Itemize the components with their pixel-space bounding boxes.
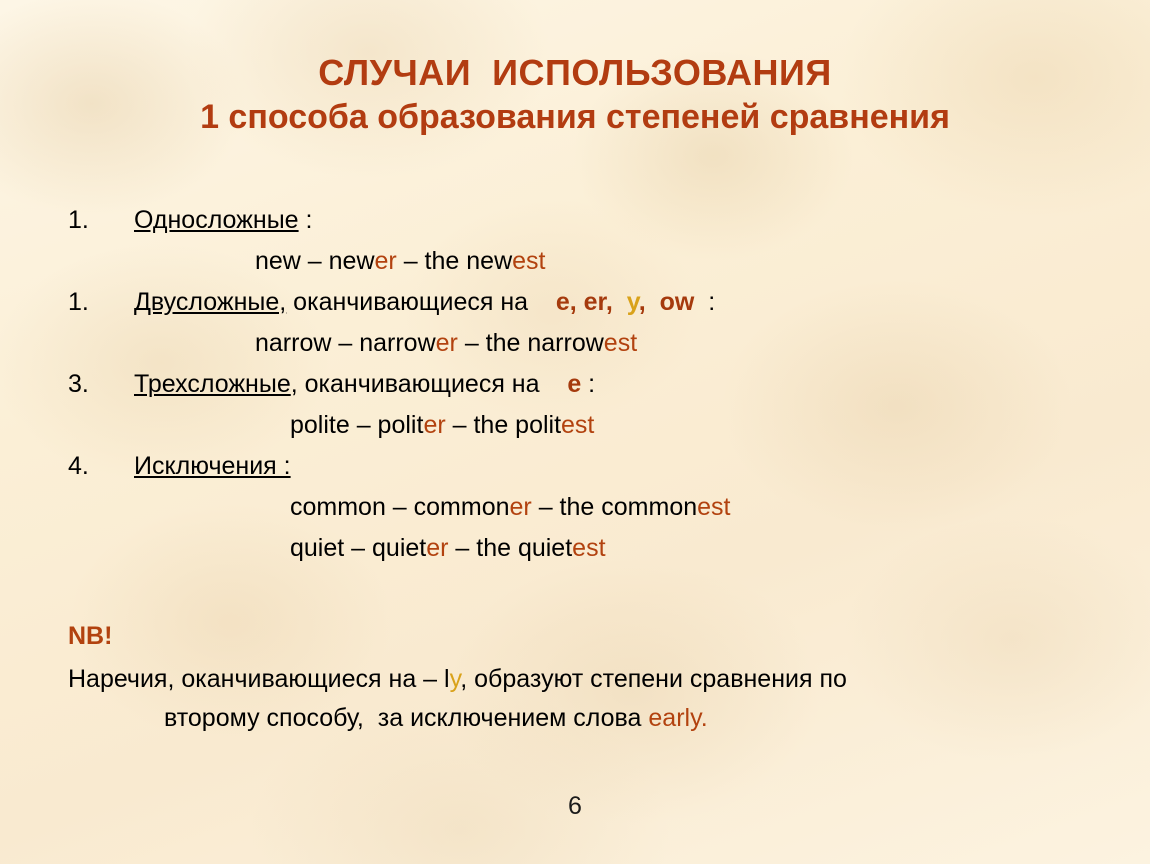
- note-line1-post: , образуют степени сравнения по: [460, 665, 847, 693]
- rule-heading: Двусложные,: [134, 288, 286, 316]
- rule-row: 4. Исключения :: [68, 454, 1088, 479]
- example-comparative-suffix: er: [510, 493, 532, 521]
- example-comparative-suffix: er: [423, 411, 445, 439]
- example-superlative-suffix: est: [512, 247, 545, 275]
- rule-heading-tail: оканчивающиеся на: [286, 288, 556, 316]
- example-line: narrow – narrower – the narrowest: [68, 331, 1088, 356]
- rule-heading-tail: , оканчивающиеся на: [291, 370, 568, 398]
- rule-suffix-colon: :: [694, 288, 715, 316]
- note-block: NB! Наречия, оканчивающиеся на – ly, обр…: [68, 624, 1088, 745]
- example-base: quiet – quiet: [290, 534, 426, 562]
- rule-row: 3. Трехсложные, оканчивающиеся на e :: [68, 372, 1088, 397]
- rule-suffix-values: e: [567, 370, 581, 398]
- rule-heading: Трехсложные: [134, 370, 291, 398]
- example-superlative-suffix: est: [561, 411, 594, 439]
- rule-suffix-values: e, er, y, ow: [556, 288, 695, 316]
- example-middle: – the narrow: [458, 329, 604, 357]
- example-superlative-suffix: est: [697, 493, 730, 521]
- rule-suffix-colon: :: [581, 370, 595, 398]
- example-line: quiet – quieter – the quietest: [68, 536, 1088, 561]
- rule-marker: 3.: [68, 372, 134, 397]
- example-superlative-suffix: est: [604, 329, 637, 357]
- rule-heading-tail: :: [299, 206, 313, 234]
- note-line2-pre: второму способу, за исключением слова: [164, 704, 648, 732]
- suffix-token-ow: , ow: [639, 288, 695, 316]
- rules-list: 1. Односложные : new – newer – the newes…: [68, 208, 1088, 577]
- title-block: СЛУЧАИ ИСПОЛЬЗОВАНИЯ 1 способа образован…: [0, 52, 1150, 137]
- rule-heading: Односложные: [134, 206, 299, 234]
- rule-text: Трехсложные, оканчивающиеся на e :: [134, 372, 595, 397]
- example-middle: – the common: [532, 493, 697, 521]
- suffix-token-e: e, er,: [556, 288, 627, 316]
- rule-marker: 1.: [68, 290, 134, 315]
- example-line: new – newer – the newest: [68, 249, 1088, 274]
- example-line: polite – politer – the politest: [68, 413, 1088, 438]
- example-comparative-suffix: er: [375, 247, 397, 275]
- example-middle: – the new: [397, 247, 512, 275]
- page-title: СЛУЧАИ ИСПОЛЬЗОВАНИЯ: [0, 52, 1150, 93]
- note-label: NB!: [68, 624, 1088, 649]
- example-middle: – the polit: [446, 411, 561, 439]
- rule-row: 1. Односложные :: [68, 208, 1088, 233]
- note-line1-pre: Наречия, оканчивающиеся на –: [68, 665, 444, 693]
- example-base: narrow – narrow: [255, 329, 436, 357]
- example-middle: – the quiet: [448, 534, 572, 562]
- example-line: common – commoner – the commonest: [68, 495, 1088, 520]
- note-exception-word: early.: [648, 704, 707, 732]
- example-base: polite – polit: [290, 411, 423, 439]
- example-comparative-suffix: er: [426, 534, 448, 562]
- rule-text: Односложные :: [134, 208, 313, 233]
- example-superlative-suffix: est: [572, 534, 605, 562]
- rule-marker: 4.: [68, 454, 134, 479]
- suffix-token-y: y: [627, 288, 639, 316]
- note-suffix-y: y: [450, 665, 461, 693]
- example-comparative-suffix: er: [436, 329, 458, 357]
- rule-text: Исключения :: [134, 454, 291, 479]
- rule-row: 1. Двусложные, оканчивающиеся на e, er, …: [68, 290, 1088, 315]
- example-base: common – common: [290, 493, 510, 521]
- rule-heading: Исключения :: [134, 452, 291, 480]
- rule-marker: 1.: [68, 208, 134, 233]
- example-base: new – new: [255, 247, 375, 275]
- note-line-1: Наречия, оканчивающиеся на – ly, образую…: [68, 667, 1088, 692]
- page-subtitle: 1 способа образования степеней сравнения: [0, 97, 1150, 137]
- note-line-2: второму способу, за исключением слова ea…: [68, 706, 1088, 731]
- slide-canvas: СЛУЧАИ ИСПОЛЬЗОВАНИЯ 1 способа образован…: [0, 0, 1150, 864]
- rule-text: Двусложные, оканчивающиеся на e, er, y, …: [134, 290, 715, 315]
- page-number: 6: [0, 792, 1150, 821]
